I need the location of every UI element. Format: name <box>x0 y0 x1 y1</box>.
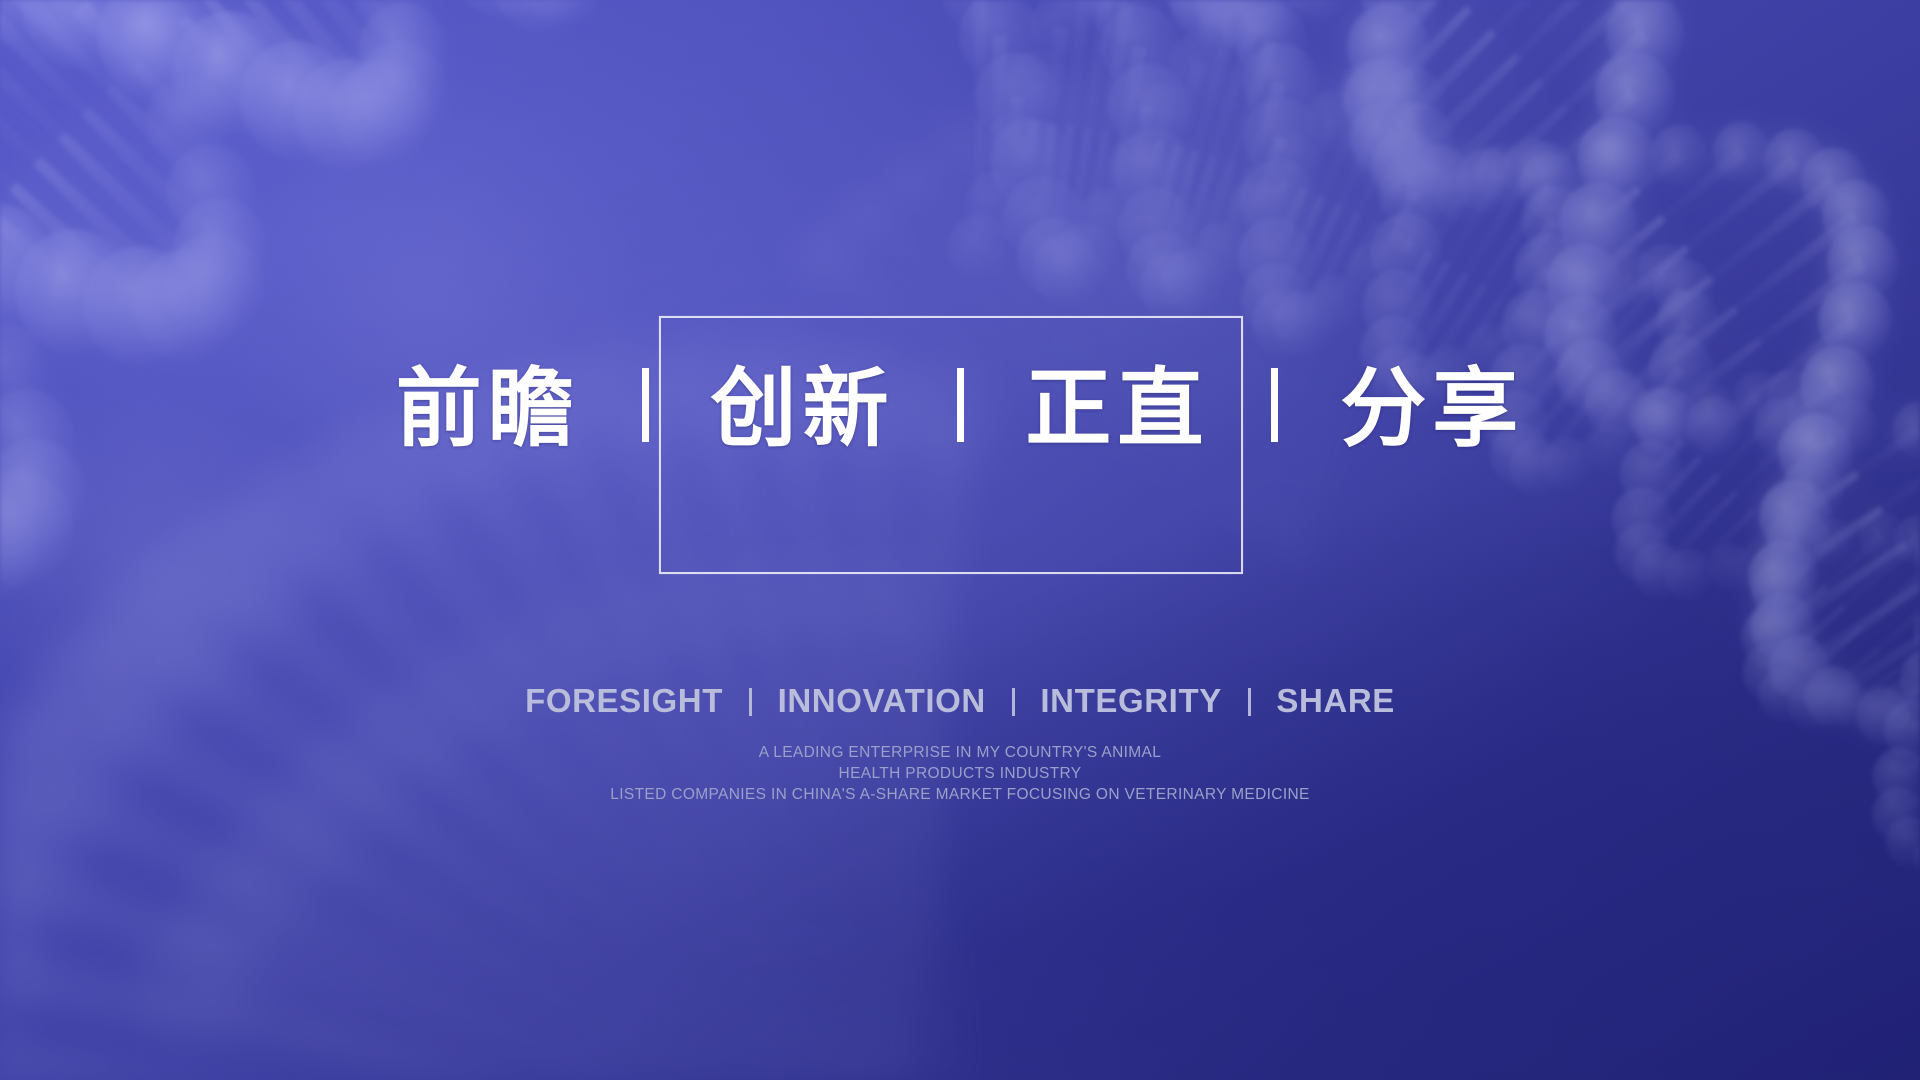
tagline-separator-2 <box>1012 688 1015 716</box>
tagline-word-4: SHARE <box>1276 682 1395 720</box>
tagline-separator-3 <box>1248 688 1251 716</box>
slide-content: 前瞻 创新 正直 分享 FORESIGHT INNOVATION INTEGRI… <box>0 0 1920 1080</box>
tagline: FORESIGHT INNOVATION INTEGRITY SHARE <box>0 682 1920 720</box>
tagline-word-1: FORESIGHT <box>525 682 723 720</box>
title-separator-3 <box>1271 368 1278 442</box>
caption-line-2: HEALTH PRODUCTS INDUSTRY <box>0 763 1920 784</box>
title-separator-2 <box>957 368 964 442</box>
title-word-4: 分享 <box>1340 366 1524 452</box>
tagline-word-3: INTEGRITY <box>1040 682 1221 720</box>
caption-block: A LEADING ENTERPRISE IN MY COUNTRY'S ANI… <box>0 742 1920 805</box>
title-word-3: 正直 <box>1025 366 1209 452</box>
page-title: 前瞻 创新 正直 分享 <box>0 360 1920 452</box>
slide-root: 前瞻 创新 正直 分享 FORESIGHT INNOVATION INTEGRI… <box>0 0 1920 1080</box>
title-separator-1 <box>642 368 649 442</box>
caption-line-3: LISTED COMPANIES IN CHINA'S A-SHARE MARK… <box>0 784 1920 805</box>
caption-line-1: A LEADING ENTERPRISE IN MY COUNTRY'S ANI… <box>0 742 1920 763</box>
tagline-word-2: INNOVATION <box>778 682 986 720</box>
tagline-separator-1 <box>749 688 752 716</box>
title-word-1: 前瞻 <box>396 366 580 452</box>
title-word-2: 创新 <box>711 366 895 452</box>
